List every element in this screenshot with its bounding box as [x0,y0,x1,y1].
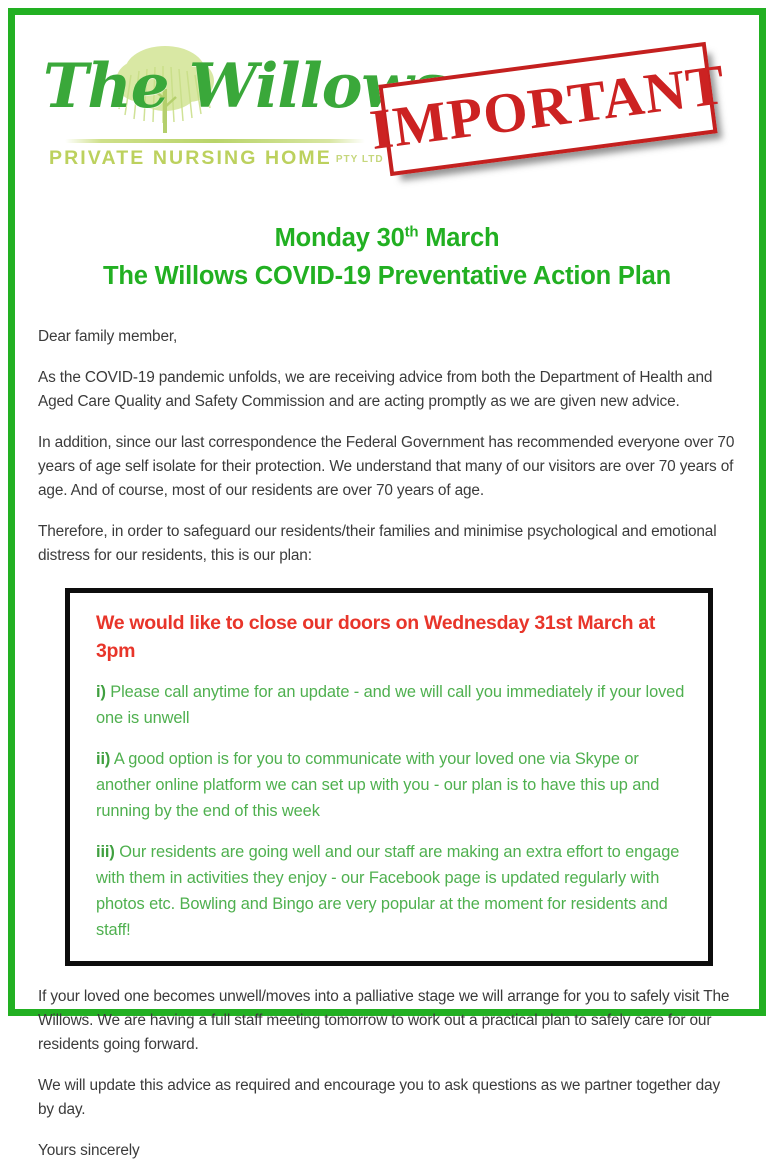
logo-underline [65,139,365,143]
letterhead: The Willows PRIVATE NURSING HOMEPTY LTD … [15,15,759,193]
plan-item-iii-text: Our residents are going well and our sta… [96,843,679,939]
paragraph-plan-intro: Therefore, in order to safeguard our res… [38,520,737,568]
intro-paragraphs: Dear family member, As the COVID-19 pand… [15,325,759,568]
plan-item-iii: iii) Our residents are going well and ou… [96,839,686,943]
important-stamp-label: IMPORTANT [383,46,713,171]
paragraph-updates: We will update this advice as required a… [38,1074,737,1122]
logo-script-text: The Willows [43,49,373,125]
title-date-line: Monday 30th March [15,219,759,257]
plan-item-i-text: Please call anytime for an update - and … [96,683,684,727]
important-stamp: IMPORTANT [375,37,725,187]
letter-page: The Willows PRIVATE NURSING HOMEPTY LTD … [0,0,774,1024]
paragraph-advice: As the COVID-19 pandemic unfolds, we are… [38,366,737,414]
willows-logo: The Willows PRIVATE NURSING HOMEPTY LTD [43,35,373,180]
logo-tagline-main: PRIVATE NURSING HOME [49,147,332,169]
title-date-prefix: Monday 30 [275,224,405,252]
page-title: Monday 30th March The Willows COVID-19 P… [15,219,759,295]
plan-item-i: i) Please call anytime for an update - a… [96,679,686,731]
closing-paragraphs: If your loved one becomes unwell/moves i… [15,985,759,1163]
logo-tagline: PRIVATE NURSING HOMEPTY LTD [49,147,379,170]
plan-item-ii-text: A good option is for you to communicate … [96,750,659,820]
paragraph-signoff: Yours sincerely [38,1139,737,1163]
page-content: The Willows PRIVATE NURSING HOMEPTY LTD … [15,15,759,1009]
plan-item-i-marker: i) [96,683,106,701]
plan-item-ii-marker: ii) [96,750,110,768]
plan-callout-box: We would like to close our doors on Wedn… [65,588,713,966]
paragraph-salutation: Dear family member, [38,325,737,349]
paragraph-isolation: In addition, since our last corresponden… [38,431,737,503]
title-subject-line: The Willows COVID-19 Preventative Action… [15,257,759,295]
title-date-ordinal: th [405,224,419,241]
plan-item-iii-marker: iii) [96,843,115,861]
title-date-suffix: March [418,224,499,252]
important-stamp-border: IMPORTANT [378,42,717,176]
plan-heading: We would like to close our doors on Wedn… [96,609,686,665]
plan-item-ii: ii) A good option is for you to communic… [96,746,686,824]
paragraph-palliative: If your loved one becomes unwell/moves i… [38,985,737,1057]
